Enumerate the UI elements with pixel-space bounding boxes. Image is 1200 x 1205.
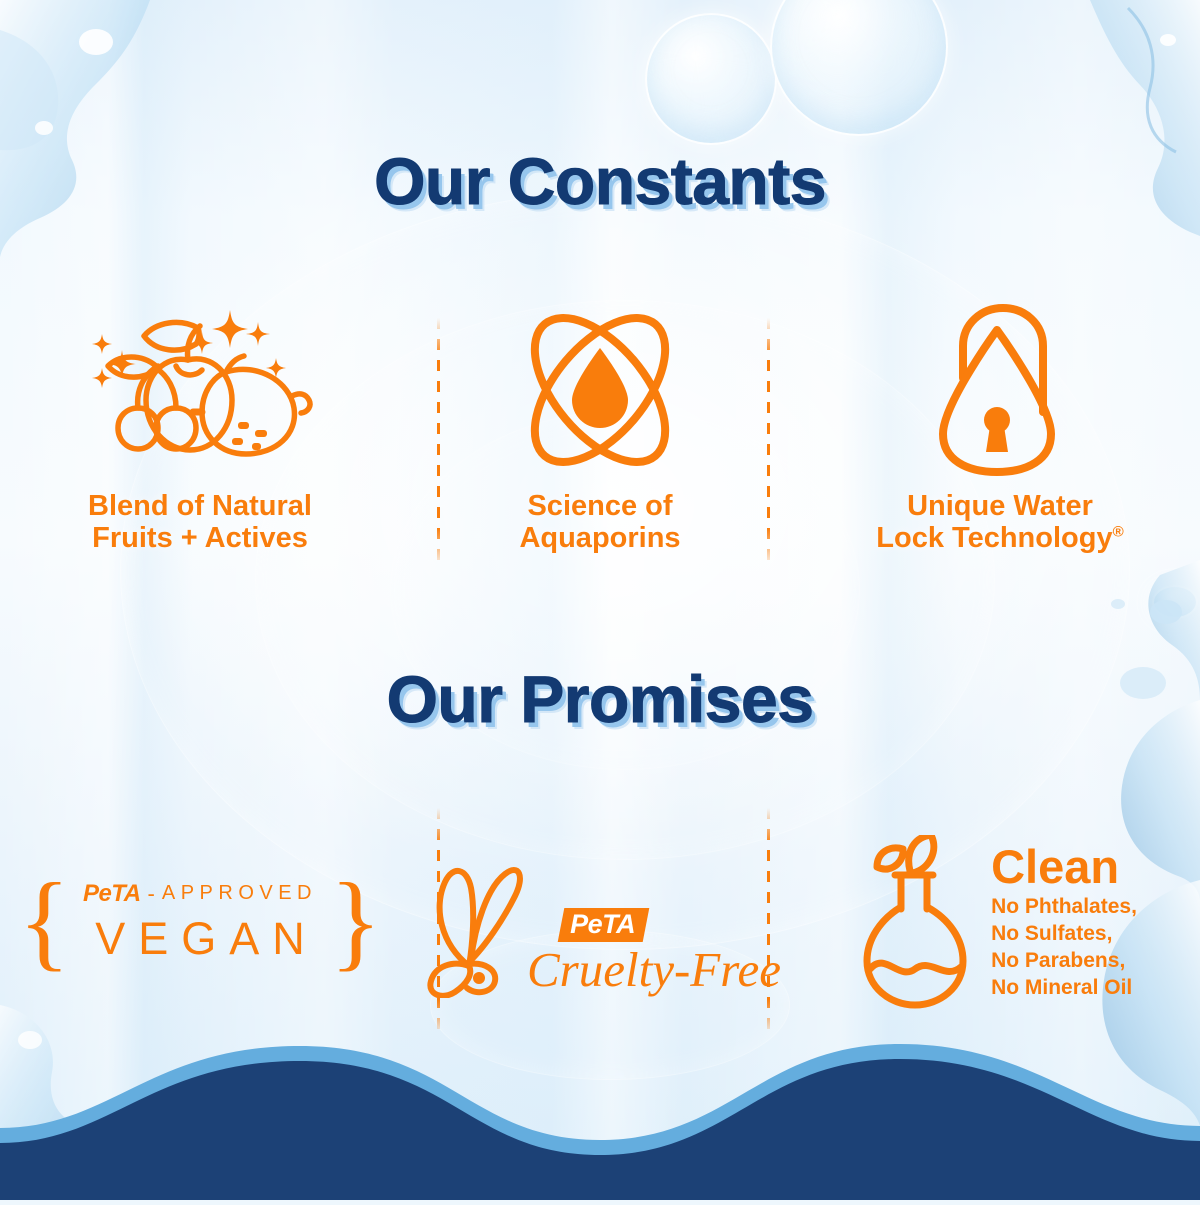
cruelty-free-wordmark: Cruelty-Free <box>527 945 781 994</box>
constant-label-aquaporins-line2: Aquaporins <box>519 522 680 554</box>
constant-label-fruits-line1: Blend of Natural <box>88 490 312 522</box>
fruits-sparkle-icon <box>80 300 320 480</box>
constant-label-water-lock-line1: Unique Water <box>876 490 1123 522</box>
brace-open-icon: { <box>18 878 70 967</box>
water-drop-padlock-icon <box>905 300 1095 480</box>
section-title-promises: Our Promises <box>0 661 1200 737</box>
constant-item-water-lock: Unique Water Lock Technology® <box>800 300 1200 570</box>
constant-item-aquaporins: Science of Aquaporins <box>400 300 800 570</box>
promise-item-clean: Clean No Phthalates, No Sulfates, No Par… <box>800 800 1200 1045</box>
vegan-badge-top-line: PeTA - APPROVED <box>83 880 317 908</box>
constant-label-aquaporins-line1: Science of <box>519 490 680 522</box>
peta-wordmark: PeTA <box>83 880 141 908</box>
constants-row: Blend of Natural Fruits + Actives Scienc… <box>0 300 1200 570</box>
constant-label-fruits: Blend of Natural Fruits + Actives <box>88 490 312 555</box>
vegan-badge-text: PeTA - APPROVED VEGAN <box>72 880 328 965</box>
registered-trademark-symbol: ® <box>1113 524 1124 541</box>
promises-row: { PeTA - APPROVED VEGAN } <box>0 800 1200 1045</box>
peta-cruelty-free-logo: PeTA Cruelty-Free <box>419 848 781 998</box>
clean-claim-sulfates: No Sulfates, <box>991 921 1137 948</box>
constant-item-fruits: Blend of Natural Fruits + Actives <box>0 300 400 570</box>
constant-label-water-lock-line2: Lock Technology® <box>876 522 1123 554</box>
peta-logo-text: PeTA <box>570 909 635 940</box>
brace-close-icon: } <box>330 878 382 967</box>
constant-label-fruits-line2: Fruits + Actives <box>88 522 312 554</box>
vegan-badge-vegan-word: VEGAN <box>95 913 318 965</box>
clean-claim-parabens: No Parabens, <box>991 948 1137 975</box>
constant-label-water-lock-text: Lock Technology <box>876 522 1112 554</box>
water-drop-center <box>572 348 628 428</box>
cruelty-free-bunny-icon <box>419 848 531 998</box>
constant-label-water-lock: Unique Water Lock Technology® <box>876 490 1123 555</box>
keyhole-shape <box>984 407 1010 452</box>
vegan-badge-approved: APPROVED <box>162 882 317 905</box>
flask-with-leaves-icon <box>863 835 975 1010</box>
clean-text-block: Clean No Phthalates, No Sulfates, No Par… <box>991 843 1137 1002</box>
clean-claim-mineral-oil: No Mineral Oil <box>991 975 1137 1002</box>
promise-item-vegan: { PeTA - APPROVED VEGAN } <box>0 800 400 1045</box>
vegan-badge-dash: - <box>148 881 155 907</box>
clean-heading: Clean <box>991 843 1137 890</box>
promise-item-cruelty-free: PeTA Cruelty-Free <box>400 800 800 1045</box>
cruelty-free-text-block: PeTA Cruelty-Free <box>527 908 781 998</box>
constant-label-aquaporins: Science of Aquaporins <box>519 490 680 555</box>
atom-water-drop-icon <box>500 300 700 480</box>
section-title-constants: Our Constants <box>0 143 1200 219</box>
bunny-eye-dot <box>473 972 485 984</box>
peta-approved-vegan-badge: { PeTA - APPROVED VEGAN } <box>18 878 381 967</box>
clean-claim-phthalates: No Phthalates, <box>991 894 1137 921</box>
clean-badge: Clean No Phthalates, No Sulfates, No Par… <box>863 835 1137 1010</box>
peta-logo-box: PeTA <box>558 908 650 942</box>
